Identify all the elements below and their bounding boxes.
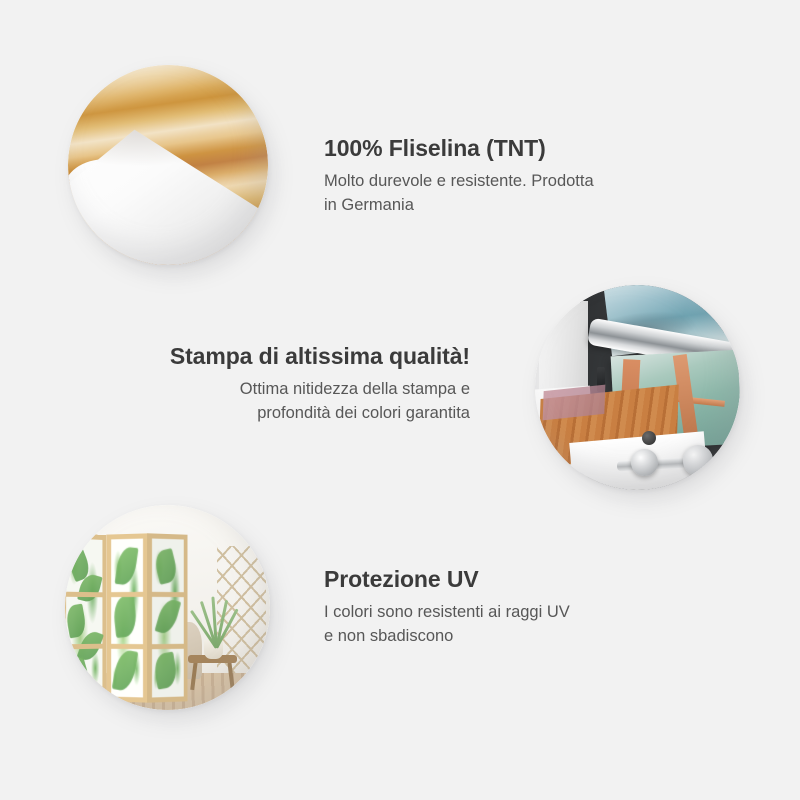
printer-roller-cap (739, 351, 740, 360)
feature-fliselina-body-line2: in Germania (324, 194, 684, 217)
leaf-motif (113, 594, 139, 637)
circle-inner-shadow (535, 285, 740, 490)
folding-room-divider (65, 534, 188, 702)
feature-fliselina-text: 100% Fliselina (TNT) Molto durevole e re… (324, 136, 684, 217)
feature-stampa-qualita-text: Stampa di altissima qualità! Ottima niti… (120, 344, 470, 425)
wallpaper-artwork (68, 65, 268, 265)
feature-stampa-qualita-body-line2: profondità dei colori garantita (120, 402, 470, 425)
panel-crossbar (66, 591, 102, 597)
leaf-motif (65, 657, 92, 694)
feature-protezione-uv-body-line2: e non sbadiscono (324, 625, 684, 648)
divider-panel-1 (65, 532, 106, 703)
leaf-motif (155, 597, 182, 635)
leaf-motif (113, 648, 140, 692)
tropical-room-divider-photo (65, 505, 270, 710)
leaf-motif (115, 546, 139, 586)
wallpaper-peeled-corner-photo (68, 65, 268, 265)
printer-artwork (535, 285, 740, 490)
panel-crossbar (112, 591, 144, 596)
room-divider-artwork (65, 505, 270, 710)
large-format-printer-photo (535, 285, 740, 490)
promo-panel: 100% Fliselina (TNT) Molto durevole e re… (0, 0, 800, 800)
divider-panel-2 (107, 533, 148, 702)
feature-stampa-qualita-heading: Stampa di altissima qualità! (120, 344, 470, 369)
feature-protezione-uv-text: Protezione UV I colori sono resistenti a… (324, 567, 684, 648)
panel-crossbar (152, 591, 184, 596)
panel-crossbar (112, 644, 144, 649)
panel-crossbar (152, 644, 184, 649)
panel-crossbar (66, 644, 102, 650)
leaf-motif (65, 604, 87, 638)
feature-stampa-qualita-body-line1: Ottima nitidezza della stampa e (120, 378, 470, 401)
feature-protezione-uv-heading: Protezione UV (324, 567, 684, 592)
leaf-motif (152, 548, 179, 585)
feature-fliselina-body-line1: Molto durevole e resistente. Prodotta (324, 170, 684, 193)
leaf-motif (152, 651, 178, 689)
circle-inner-shadow (68, 65, 268, 265)
feature-fliselina-heading: 100% Fliselina (TNT) (324, 136, 684, 161)
divider-panel-3 (147, 533, 187, 702)
feature-protezione-uv-body-line1: I colori sono resistenti ai raggi UV (324, 601, 684, 624)
